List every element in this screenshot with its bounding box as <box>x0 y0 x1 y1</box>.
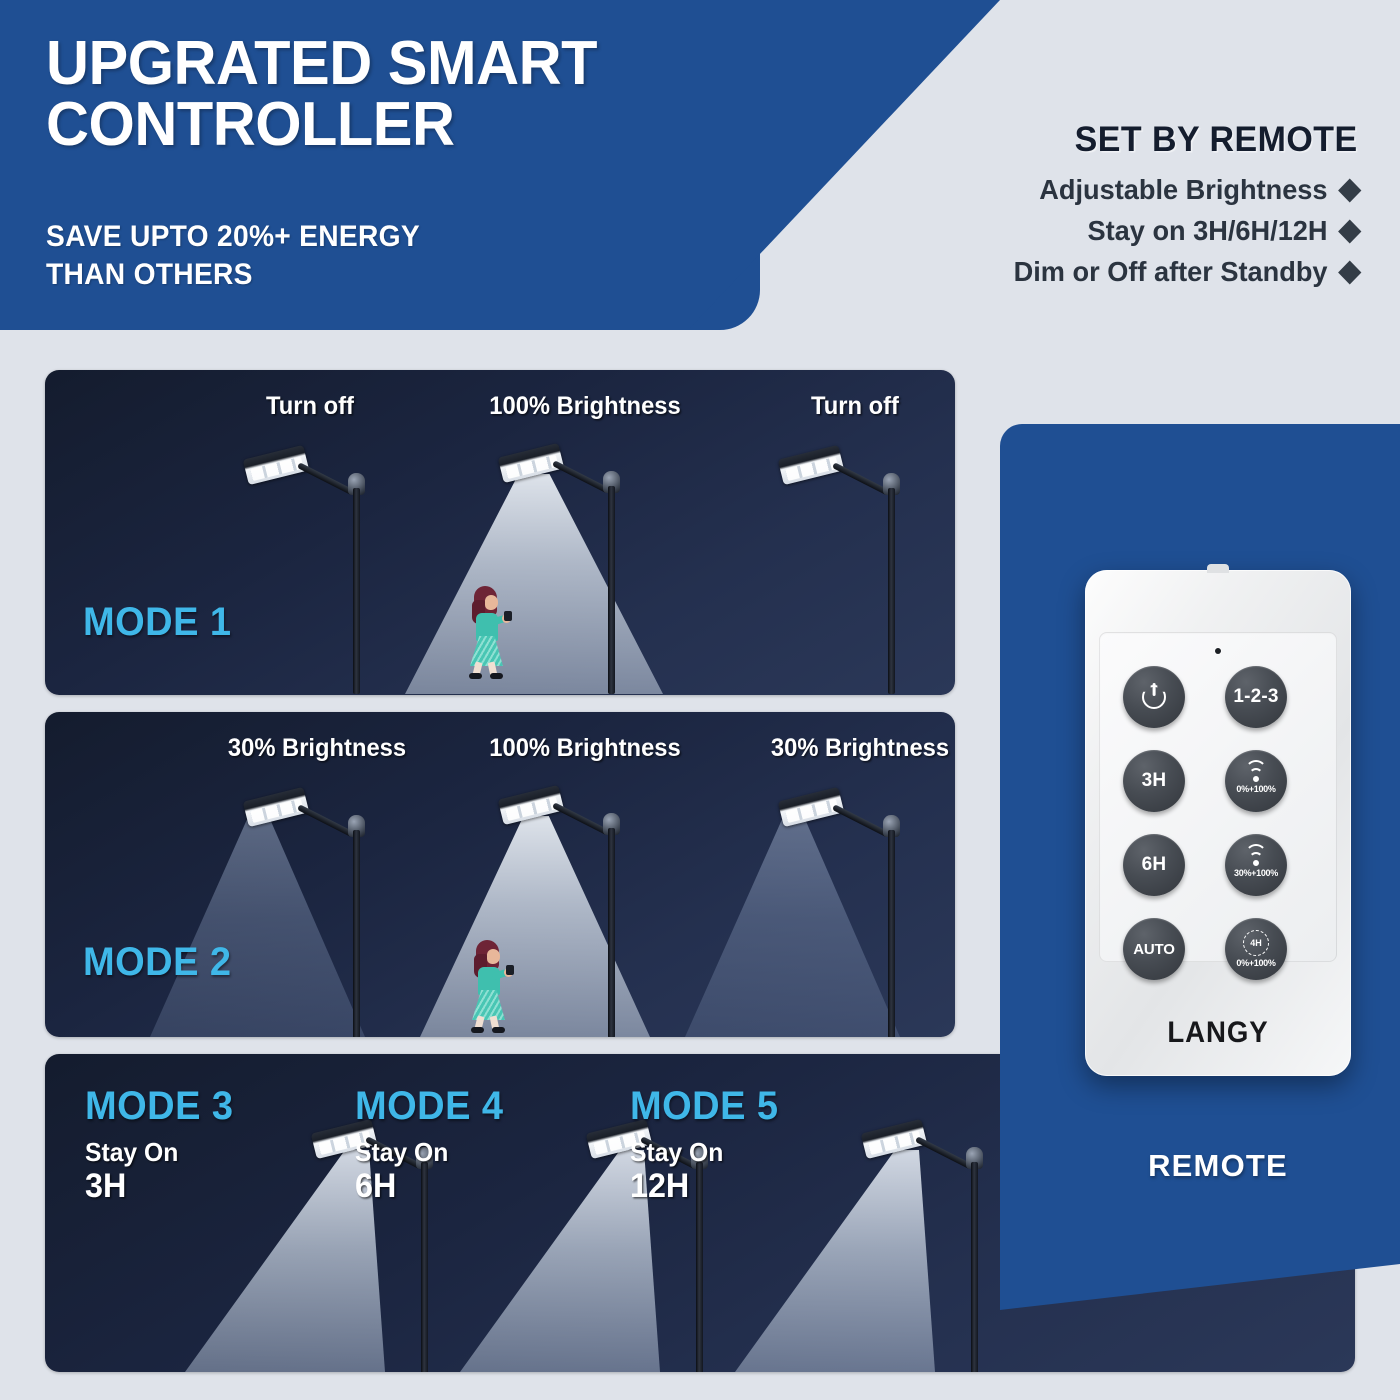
set-by-remote-block: SET BY REMOTE Adjustable Brightness Stay… <box>1003 120 1358 297</box>
button-label: 1-2-3 <box>1233 686 1278 708</box>
mode-4-tag: MODE 4 <box>355 1084 504 1129</box>
lamp-pole <box>888 488 895 694</box>
mode-3-duration: 3H <box>85 1167 178 1205</box>
mode-5-tag: MODE 5 <box>630 1084 779 1129</box>
mode-4-duration: 6H <box>355 1167 448 1205</box>
ir-led-icon <box>1215 648 1221 654</box>
diamond-icon <box>1338 178 1361 202</box>
lamp-arm <box>832 462 890 495</box>
mode-5-duration: 12H <box>630 1167 723 1205</box>
lamp-arm <box>552 802 610 835</box>
mode2-label-left: 30% Brightness <box>228 734 406 763</box>
remote-control: 1-2-3 3H 0%+100% 6H 30%+100% AUTO <box>1085 570 1351 1076</box>
mode-3-stay-label: Stay On <box>85 1137 178 1167</box>
lamp-arm <box>297 804 355 837</box>
light-beam-100 <box>405 474 663 694</box>
mode-4-stay-on: Stay On 6H <box>355 1138 448 1205</box>
mode2-label-right: 30% Brightness <box>771 734 949 763</box>
lamp-pole <box>971 1162 978 1372</box>
button-sublabel: 0%+100% <box>1236 958 1275 968</box>
lamp-arm <box>915 1136 973 1169</box>
lamp-pole <box>888 830 895 1037</box>
lamp-pole <box>608 486 615 694</box>
timer-6h-button[interactable]: 6H <box>1123 834 1185 896</box>
mode-2-tag: MODE 2 <box>83 940 232 985</box>
feature-row-dim-or-off: Dim or Off after Standby <box>1014 256 1358 288</box>
remote-top-nub <box>1207 564 1229 573</box>
page-title: UPGRATED SMART CONTROLLER <box>46 34 597 156</box>
wifi-sensor-icon <box>1244 852 1268 866</box>
remote-caption: REMOTE <box>1085 1148 1351 1184</box>
page-title-line2: CONTROLLER <box>46 95 597 156</box>
button-label: AUTO <box>1133 941 1174 958</box>
timer-4h-dim-button[interactable]: 4H 0%+100% <box>1225 918 1287 980</box>
timer-3h-button[interactable]: 3H <box>1123 750 1185 812</box>
diamond-icon <box>1338 260 1361 284</box>
feature-row-stay-on: Stay on 3H/6H/12H <box>1014 215 1358 247</box>
mode-2-panel: 30% Brightness 100% Brightness 30% Brigh… <box>45 712 955 1037</box>
light-beam-mode5 <box>735 1150 935 1372</box>
mode-1-2-3-button[interactable]: 1-2-3 <box>1225 666 1287 728</box>
mode-5-stay-label: Stay On <box>630 1137 723 1167</box>
mode-3-stay-on: Stay On 3H <box>85 1138 178 1205</box>
button-label: 6H <box>1142 854 1167 876</box>
lamp-pole <box>353 830 360 1037</box>
auto-button[interactable]: AUTO <box>1123 918 1185 980</box>
button-sublabel: 30%+100% <box>1234 868 1278 878</box>
clock-timer-icon: 4H <box>1243 930 1269 956</box>
lamp-arm <box>552 460 610 493</box>
lamp-pole <box>608 828 615 1037</box>
power-icon <box>1142 685 1166 709</box>
infographic-canvas: UPGRATED SMART CONTROLLER SAVE UPTO 20%+… <box>0 0 1400 1400</box>
mode-3-tag: MODE 3 <box>85 1084 234 1129</box>
page-subtitle-line2: THAN OTHERS <box>46 256 420 294</box>
mode1-label-right: Turn off <box>811 392 899 421</box>
dim-0-to-100-button[interactable]: 0%+100% <box>1225 750 1287 812</box>
mode-1-panel: Turn off 100% Brightness Turn off MODE 1 <box>45 370 955 695</box>
page-title-line1: UPGRATED SMART <box>46 34 597 95</box>
pedestrian-figure <box>463 586 509 678</box>
mode-5-stay-on: Stay On 12H <box>630 1138 723 1205</box>
diamond-icon <box>1338 219 1361 243</box>
remote-brand-logo: LANGY <box>1096 1016 1341 1050</box>
feature-label: Dim or Off after Standby <box>1014 256 1328 288</box>
feature-label: Adjustable Brightness <box>1040 174 1328 206</box>
mode-1-tag: MODE 1 <box>83 600 232 645</box>
mode1-label-left: Turn off <box>266 392 354 421</box>
clock-timer-label: 4H <box>1250 939 1262 948</box>
light-beam-100 <box>420 816 650 1037</box>
button-label: 3H <box>1142 770 1167 792</box>
feature-label: Stay on 3H/6H/12H <box>1088 215 1328 247</box>
mode2-label-center: 100% Brightness <box>489 734 680 763</box>
mode1-label-center: 100% Brightness <box>489 392 680 421</box>
set-by-remote-title: SET BY REMOTE <box>1014 120 1358 160</box>
lamp-arm <box>832 804 890 837</box>
feature-row-adjustable-brightness: Adjustable Brightness <box>1014 174 1358 206</box>
lamp-arm <box>297 462 355 495</box>
light-beam-30-left <box>150 820 365 1037</box>
wifi-sensor-icon <box>1244 768 1268 782</box>
lamp-pole <box>353 488 360 694</box>
power-button[interactable] <box>1123 666 1185 728</box>
pedestrian-figure <box>465 940 511 1032</box>
dim-30-to-100-button[interactable]: 30%+100% <box>1225 834 1287 896</box>
button-sublabel: 0%+100% <box>1236 784 1275 794</box>
mode-4-stay-label: Stay On <box>355 1137 448 1167</box>
light-beam-30-right <box>685 820 900 1037</box>
page-subtitle-line1: SAVE UPTO 20%+ ENERGY <box>46 218 420 256</box>
remote-keypad: 1-2-3 3H 0%+100% 6H 30%+100% AUTO <box>1099 632 1337 962</box>
page-subtitle: SAVE UPTO 20%+ ENERGY THAN OTHERS <box>46 218 420 293</box>
